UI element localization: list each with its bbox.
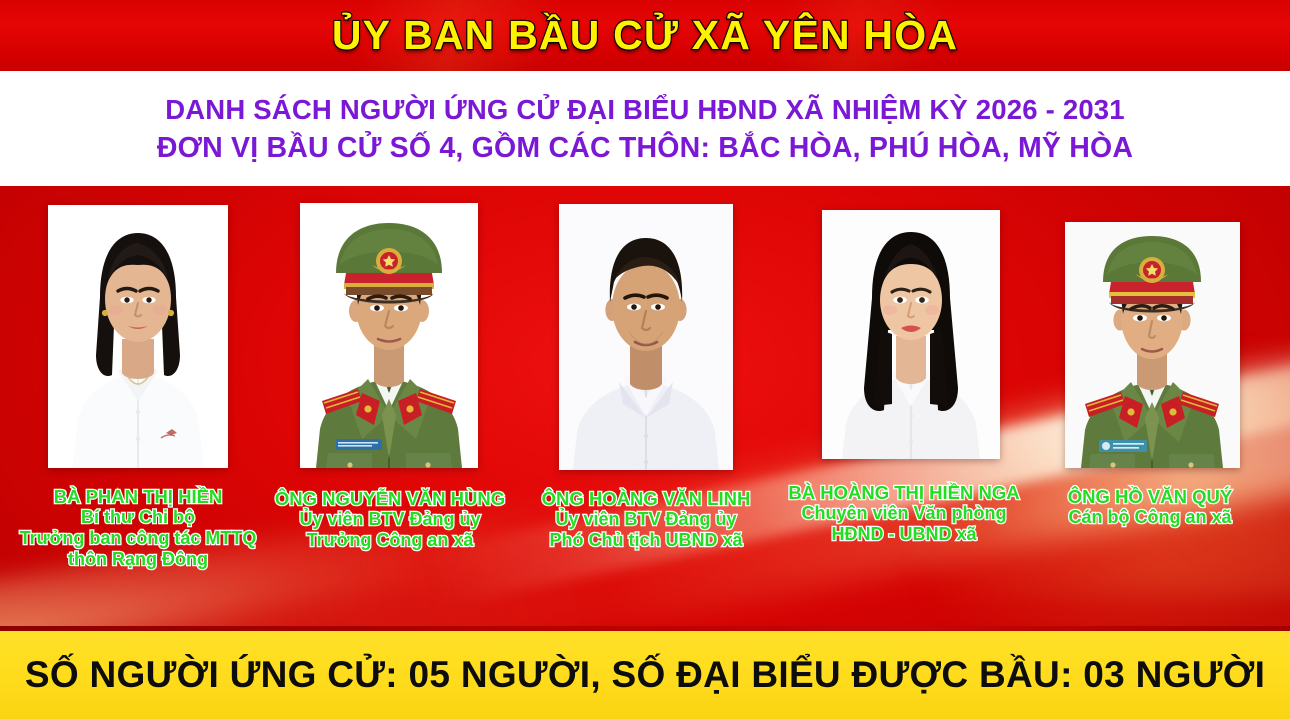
candidate-role-3-0: Ủy viên BTV Đảng ủy [516, 509, 776, 530]
candidate-list: BÀ PHAN THỊ HIỀN Bí thư Chi bộ Trưởng ba… [0, 186, 1290, 630]
page-title: ỦY BAN BẦU CỬ XÃ YÊN HÒA [0, 0, 1290, 71]
candidate-role-1-1: Trưởng ban công tác MTTQ [0, 528, 276, 549]
footer-divider [0, 626, 1290, 631]
election-candidate-poster: ỦY BAN BẦU CỬ XÃ YÊN HÒA DANH SÁCH NGƯỜI… [0, 0, 1290, 719]
subtitle-line-1: DANH SÁCH NGƯỜI ỨNG CỬ ĐẠI BIỂU HĐND XÃ … [165, 91, 1125, 129]
candidate-name-1: BÀ PHAN THỊ HIỀN [0, 486, 276, 507]
candidate-photo-4 [822, 210, 1000, 459]
candidate-name-2: ÔNG NGUYỄN VĂN HÙNG [254, 488, 526, 509]
footer-summary-text: SỐ NGƯỜI ỨNG CỬ: 05 NGƯỜI, SỐ ĐẠI BIỂU Đ… [25, 654, 1265, 696]
candidate-name-3: ÔNG HOÀNG VĂN LINH [516, 488, 776, 509]
candidate-role-1-2: thôn Rạng Đông [0, 549, 276, 570]
candidate-caption-3: ÔNG HOÀNG VĂN LINH Ủy viên BTV Đảng ủy P… [516, 488, 776, 551]
candidate-role-4-0: Chuyên viên Văn phòng [770, 503, 1038, 524]
candidate-role-2-0: Ủy viên BTV Đảng ủy [254, 509, 526, 530]
candidate-photo-1 [48, 205, 228, 468]
candidate-photo-3 [559, 204, 733, 470]
candidate-role-3-1: Phó Chủ tịch UBND xã [516, 530, 776, 551]
subtitle-band: DANH SÁCH NGƯỜI ỨNG CỬ ĐẠI BIỂU HĐND XÃ … [0, 71, 1290, 186]
candidate-photo-5 [1065, 222, 1240, 468]
candidate-role-2-1: Trưởng Công an xã [254, 530, 526, 551]
candidate-role-4-1: HĐND - UBND xã [770, 524, 1038, 545]
candidates-area: BÀ PHAN THỊ HIỀN Bí thư Chi bộ Trưởng ba… [0, 186, 1290, 630]
candidate-name-4: BÀ HOÀNG THỊ HIỀN NGA [770, 482, 1038, 503]
footer-band: SỐ NGƯỜI ỨNG CỬ: 05 NGƯỜI, SỐ ĐẠI BIỂU Đ… [0, 630, 1290, 719]
candidate-name-5: ÔNG HỒ VĂN QUÝ [1020, 486, 1280, 507]
candidate-role-1-0: Bí thư Chi bộ [0, 507, 276, 528]
candidate-caption-1: BÀ PHAN THỊ HIỀN Bí thư Chi bộ Trưởng ba… [0, 486, 276, 570]
candidate-caption-5: ÔNG HỒ VĂN QUÝ Cán bộ Công an xã [1020, 486, 1280, 528]
candidate-role-5-0: Cán bộ Công an xã [1020, 507, 1280, 528]
candidate-caption-2: ÔNG NGUYỄN VĂN HÙNG Ủy viên BTV Đảng ủy … [254, 488, 526, 551]
candidate-photo-2 [300, 203, 478, 468]
title-band: ỦY BAN BẦU CỬ XÃ YÊN HÒA [0, 0, 1290, 71]
subtitle-line-2: ĐƠN VỊ BẦU CỬ SỐ 4, GỒM CÁC THÔN: BẮC HÒ… [157, 129, 1133, 167]
candidate-caption-4: BÀ HOÀNG THỊ HIỀN NGA Chuyên viên Văn ph… [770, 482, 1038, 545]
